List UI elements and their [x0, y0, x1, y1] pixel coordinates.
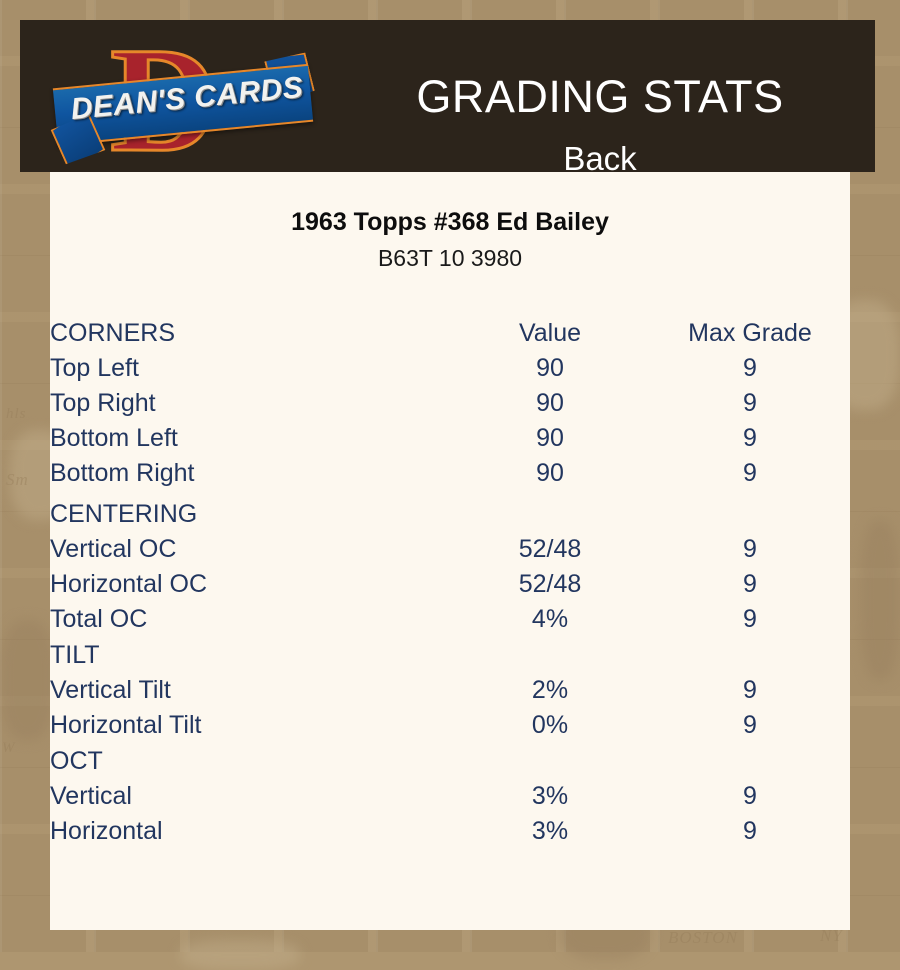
section-header-row: TILT	[50, 634, 850, 670]
stat-value: 3%	[450, 811, 650, 846]
stat-label: Horizontal Tilt	[50, 705, 450, 740]
column-header-max-grade: Max Grade	[650, 308, 850, 348]
stat-value: 90	[450, 453, 650, 488]
column-header-value: Value	[450, 308, 650, 348]
table-row: Horizontal3%9	[50, 811, 850, 846]
section-header-spacer	[450, 740, 650, 776]
stat-value: 90	[450, 418, 650, 453]
stat-label: Top Left	[50, 348, 450, 383]
stat-max-grade: 9	[650, 418, 850, 453]
page-title: GRADING STATS	[320, 72, 880, 122]
table-row: Bottom Right909	[50, 453, 850, 488]
page-subtitle: Back	[320, 140, 880, 178]
stat-value: 0%	[450, 705, 650, 740]
table-row: Total OC4%9	[50, 599, 850, 634]
table-row: Vertical Tilt2%9	[50, 670, 850, 705]
grading-stats-table: CORNERSValueMax GradeTop Left909Top Righ…	[50, 308, 850, 846]
stat-max-grade: 9	[650, 453, 850, 488]
stat-max-grade: 9	[650, 705, 850, 740]
stat-max-grade: 9	[650, 670, 850, 705]
stat-value: 2%	[450, 670, 650, 705]
stat-value: 3%	[450, 776, 650, 811]
section-header-row: CENTERING	[50, 488, 850, 529]
stat-value: 90	[450, 348, 650, 383]
stat-label: Horizontal OC	[50, 564, 450, 599]
section-header-spacer	[650, 634, 850, 670]
section-header-row: OCT	[50, 740, 850, 776]
stat-label: Bottom Left	[50, 418, 450, 453]
table-row: Bottom Left909	[50, 418, 850, 453]
stat-max-grade: 9	[650, 529, 850, 564]
stat-max-grade: 9	[650, 599, 850, 634]
stat-label: Vertical OC	[50, 529, 450, 564]
section-header-centering: CENTERING	[50, 488, 450, 529]
stat-label: Vertical	[50, 776, 450, 811]
table-row: Vertical OC52/489	[50, 529, 850, 564]
card-subtitle: B63T 10 3980	[50, 245, 850, 272]
stat-value: 52/48	[450, 529, 650, 564]
stat-label: Bottom Right	[50, 453, 450, 488]
deans-cards-logo: D DEAN'S CARDS	[55, 30, 315, 168]
section-header-spacer	[450, 488, 650, 529]
stat-max-grade: 9	[650, 811, 850, 846]
section-header-spacer	[650, 740, 850, 776]
stat-max-grade: 9	[650, 776, 850, 811]
section-header-oct: OCT	[50, 740, 450, 776]
stat-label: Total OC	[50, 599, 450, 634]
stat-value: 90	[450, 383, 650, 418]
stat-max-grade: 9	[650, 564, 850, 599]
table-row: Horizontal OC52/489	[50, 564, 850, 599]
stat-label: Vertical Tilt	[50, 670, 450, 705]
stat-max-grade: 9	[650, 348, 850, 383]
stat-value: 4%	[450, 599, 650, 634]
stat-max-grade: 9	[650, 383, 850, 418]
card-title: 1963 Topps #368 Ed Bailey	[50, 208, 850, 237]
section-header-corners: CORNERS	[50, 308, 450, 348]
table-row: Top Left909	[50, 348, 850, 383]
stat-label: Horizontal	[50, 811, 450, 846]
content-panel: 1963 Topps #368 Ed Bailey B63T 10 3980 C…	[50, 172, 850, 930]
table-row: Vertical3%9	[50, 776, 850, 811]
stat-label: Top Right	[50, 383, 450, 418]
table-column-header-row: CORNERSValueMax Grade	[50, 308, 850, 348]
section-header-tilt: TILT	[50, 634, 450, 670]
section-header-spacer	[650, 488, 850, 529]
stat-value: 52/48	[450, 564, 650, 599]
table-row: Top Right909	[50, 383, 850, 418]
table-row: Horizontal Tilt0%9	[50, 705, 850, 740]
section-header-spacer	[450, 634, 650, 670]
header-bar: D DEAN'S CARDS GRADING STATS Back	[20, 20, 875, 172]
